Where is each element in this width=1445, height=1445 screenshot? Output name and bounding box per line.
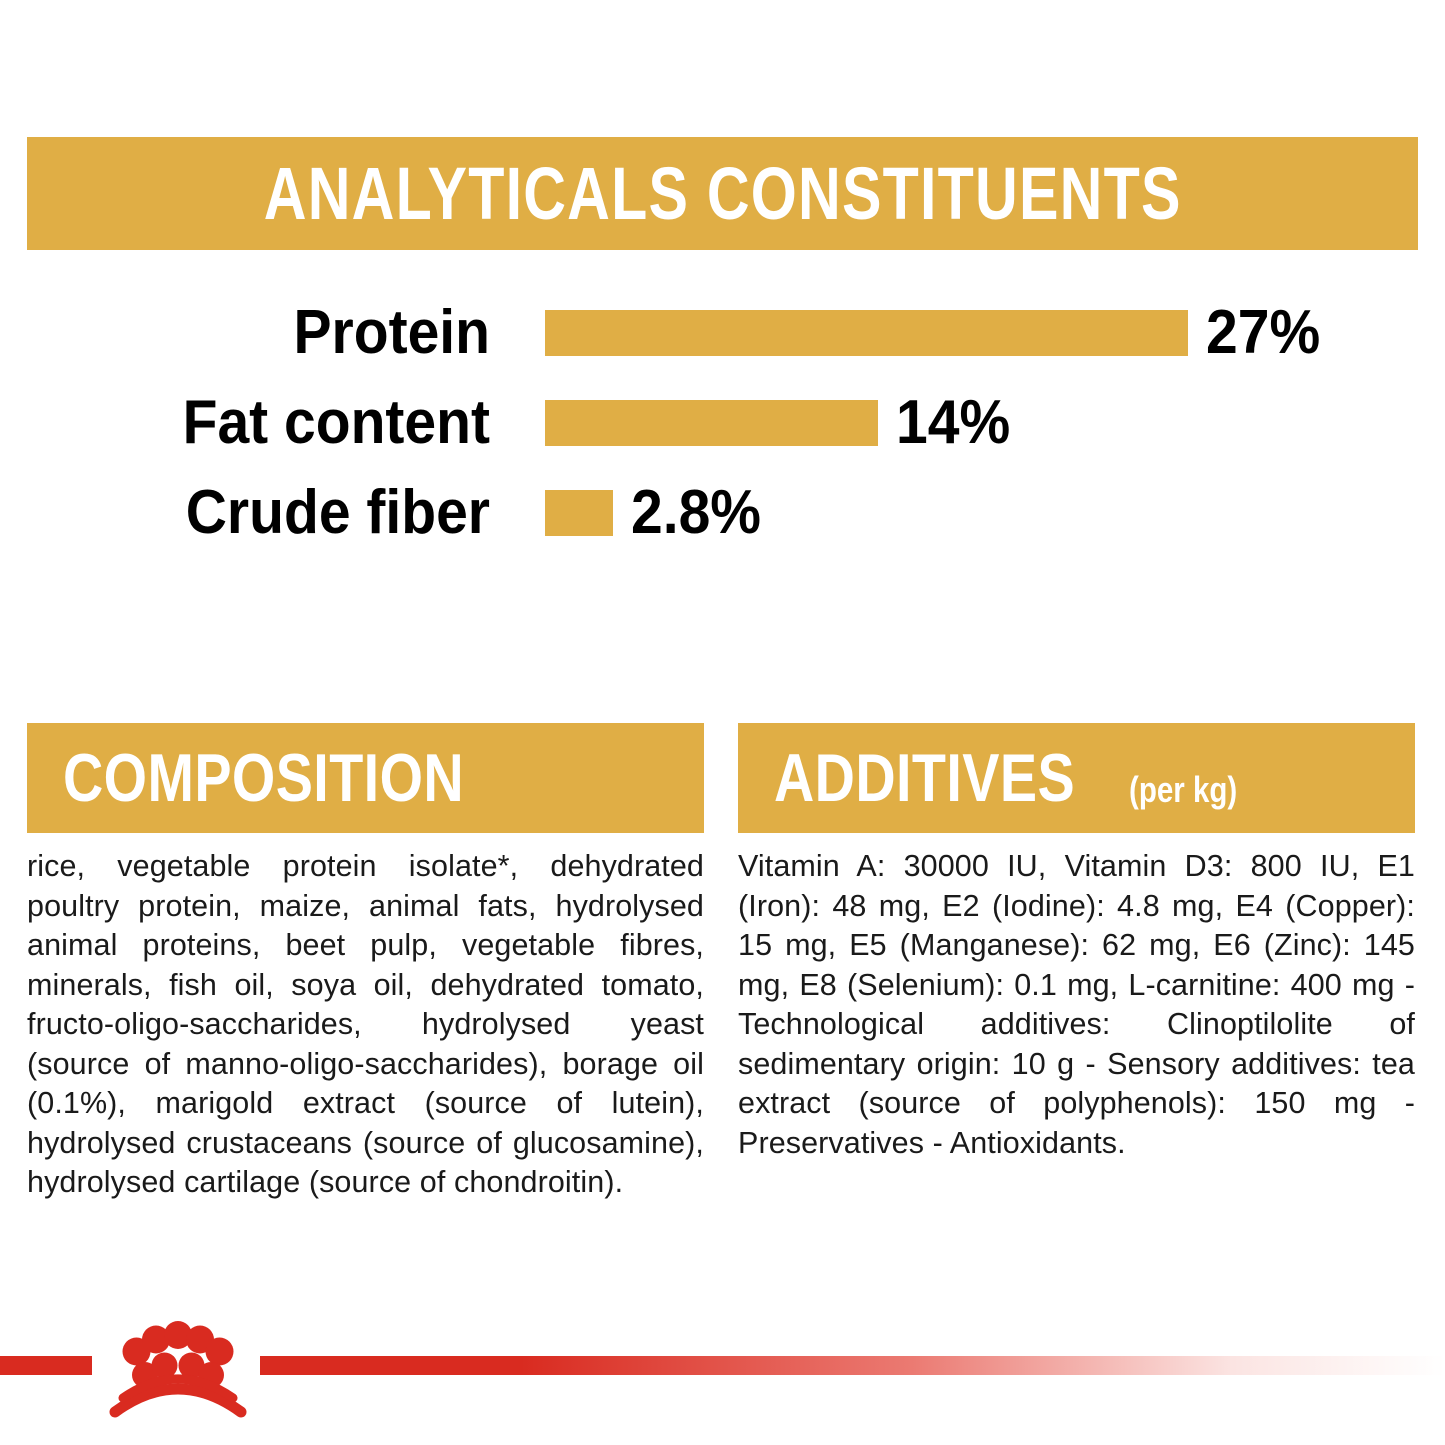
additives-section: ADDITIVES (per kg) Vitamin A: 30000 IU, … — [738, 723, 1415, 1163]
additives-title: ADDITIVES — [774, 744, 1075, 812]
footer-rule-right — [260, 1356, 1445, 1375]
chart-bar-crude-fiber — [545, 490, 613, 536]
composition-section: COMPOSITION rice, vegetable protein isol… — [27, 723, 704, 1203]
composition-body-text: rice, vegetable protein isolate*, dehydr… — [27, 847, 706, 1203]
chart-row-label-fat-content: Fat content — [39, 392, 490, 454]
composition-header-band: COMPOSITION — [27, 723, 704, 833]
royal-canin-crown-icon — [103, 1308, 253, 1420]
chart-value-protein: 27% — [1206, 302, 1320, 364]
analyticals-constituents-header-band: ANALYTICALS CONSTITUENTS — [27, 137, 1418, 250]
additives-body-text: Vitamin A: 30000 IU, Vitamin D3: 800 IU,… — [738, 847, 1415, 1163]
chart-value-fat-content: 14% — [896, 392, 1010, 454]
additives-per-kg-label: (per kg) — [1129, 772, 1237, 808]
footer-rule-left — [0, 1356, 92, 1375]
additives-header-band: ADDITIVES (per kg) — [738, 723, 1415, 833]
analyticals-constituents-chart: Protein 27% Fat content 14% Crude fiber … — [0, 288, 1445, 558]
chart-bar-protein — [545, 310, 1188, 356]
chart-row-protein: Protein 27% — [0, 288, 1445, 378]
chart-row-label-protein: Protein — [39, 302, 490, 364]
footer — [0, 1290, 1445, 1445]
chart-bar-fat-content — [545, 400, 878, 446]
chart-row-label-crude-fiber: Crude fiber — [39, 482, 490, 544]
analyticals-constituents-title: ANALYTICALS CONSTITUENTS — [264, 157, 1182, 231]
chart-row-fat-content: Fat content 14% — [0, 378, 1445, 468]
chart-value-crude-fiber: 2.8% — [631, 482, 761, 544]
chart-row-crude-fiber: Crude fiber 2.8% — [0, 468, 1445, 558]
composition-title: COMPOSITION — [63, 744, 464, 812]
